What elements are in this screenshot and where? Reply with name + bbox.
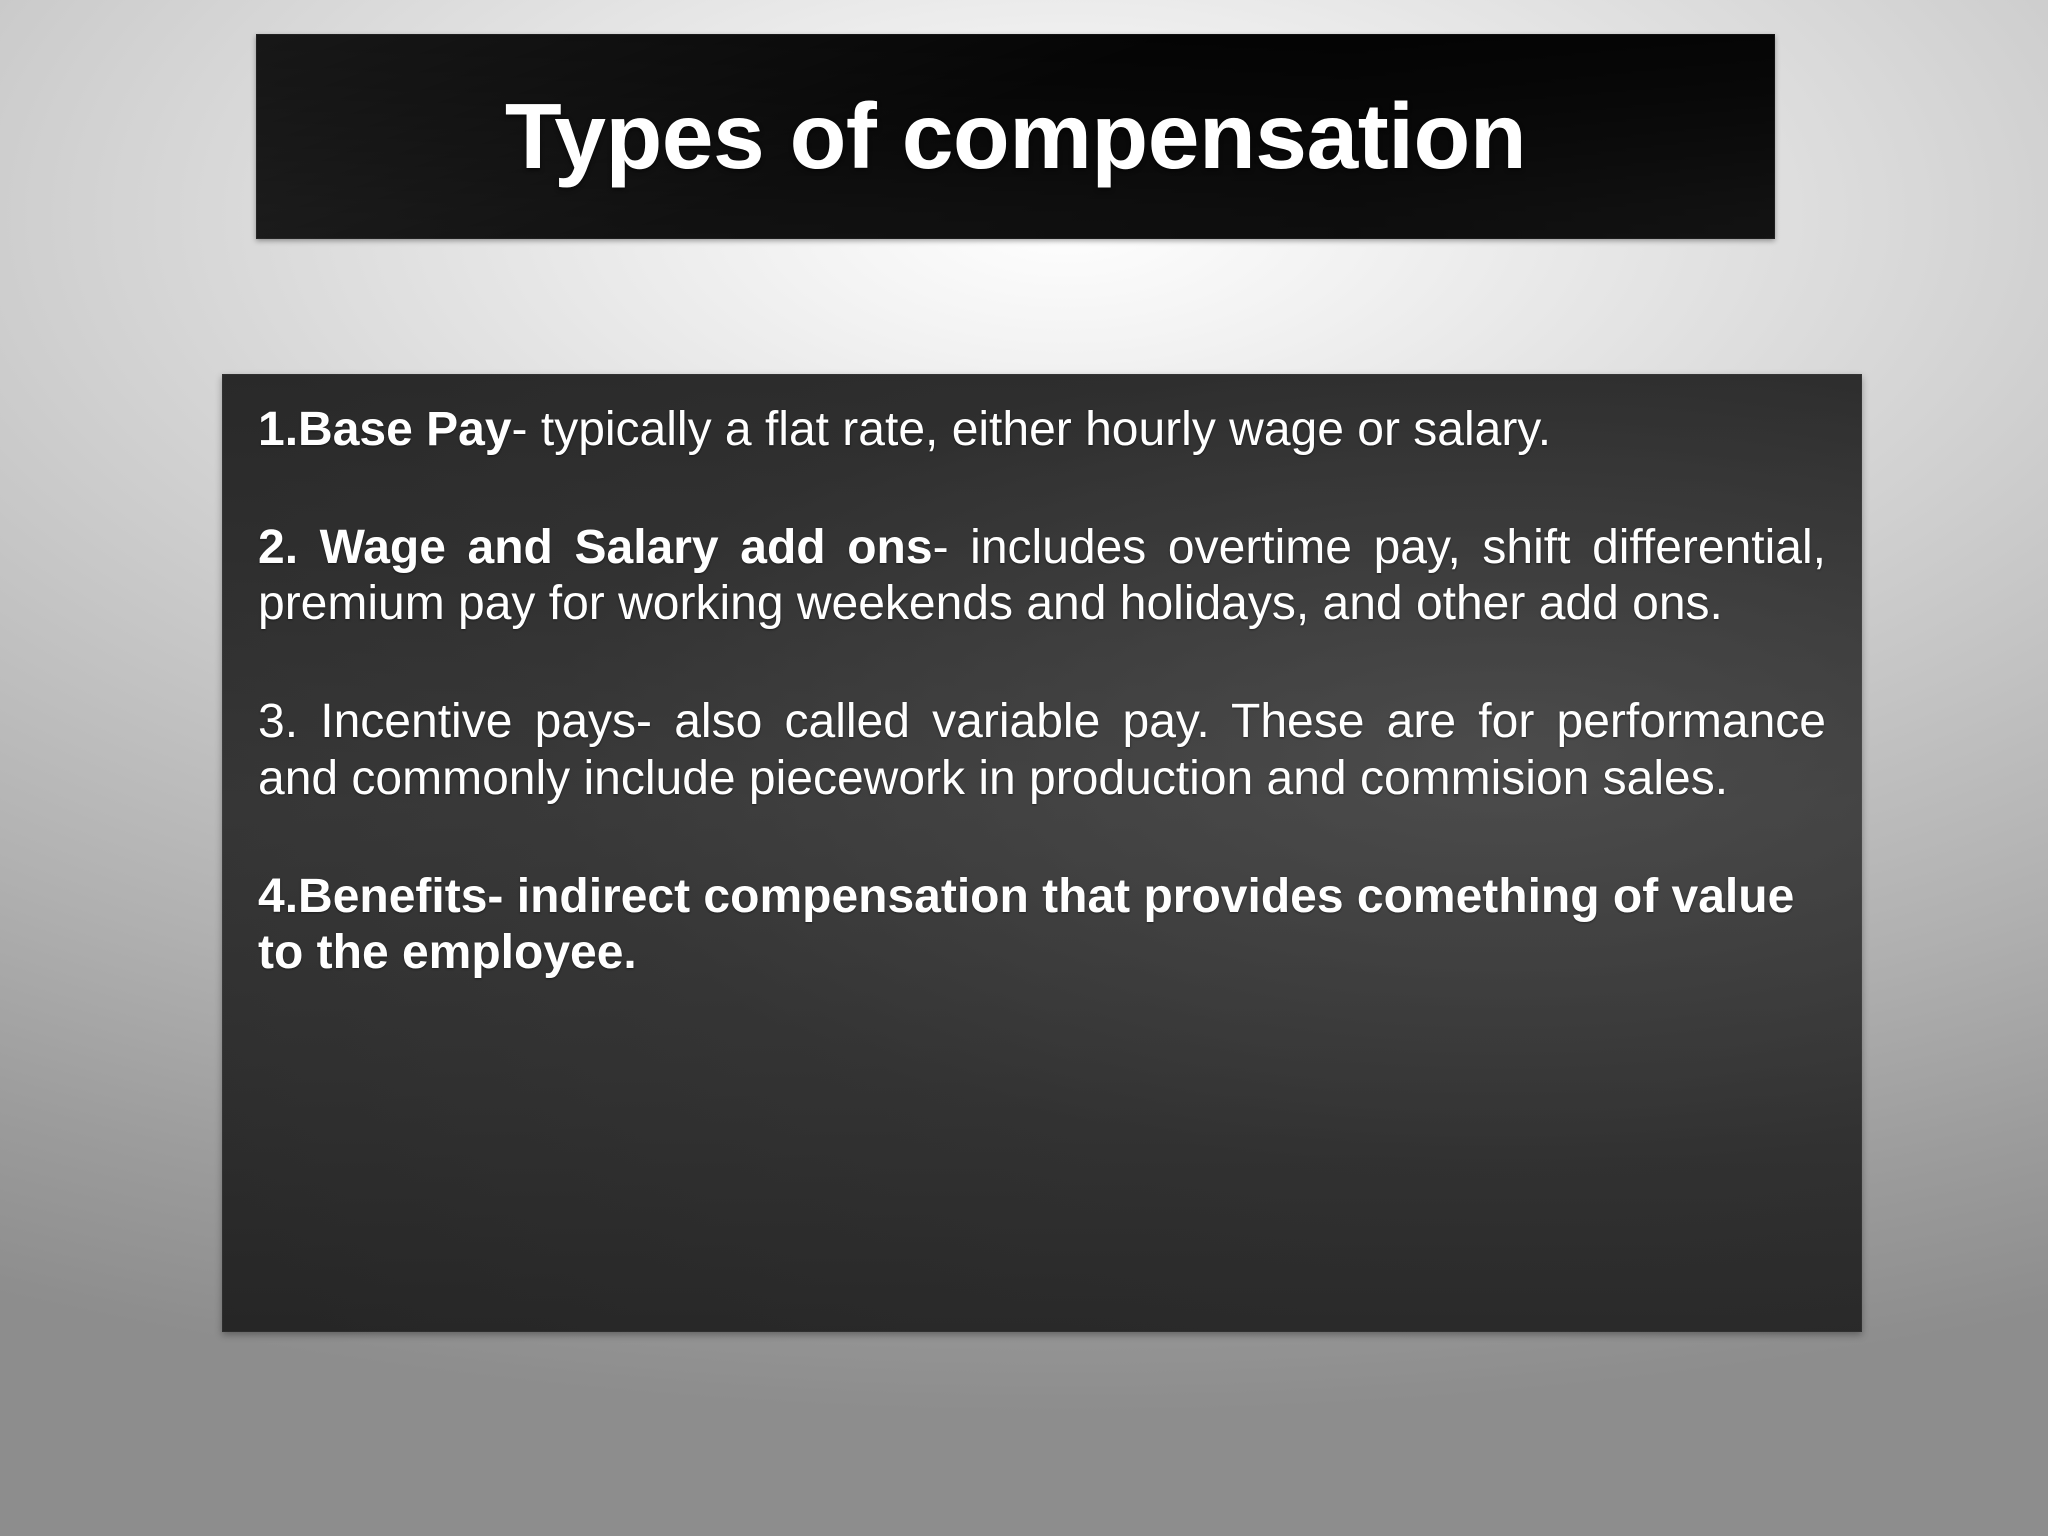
body-item-4-text: - indirect compensation that provides co… [258, 870, 1794, 979]
body-item-2: 2. Wage and Salary add ons- includes ove… [258, 520, 1826, 632]
body-item-1: 1.Base Pay- typically a flat rate, eithe… [258, 402, 1826, 458]
body-item-3: 3. Incentive pays- also called variable … [258, 694, 1826, 806]
body-item-1-text: - typically a flat rate, either hourly w… [512, 403, 1552, 456]
slide: Types of compensation 1.Base Pay- typica… [0, 0, 2048, 1536]
page-title: Types of compensation [505, 90, 1526, 183]
body-item-4: 4.Benefits- indirect compensation that p… [258, 869, 1826, 981]
body-item-1-term: 1.Base Pay [258, 403, 512, 456]
title-bar: Types of compensation [256, 34, 1775, 239]
content-body-box: 1.Base Pay- typically a flat rate, eithe… [222, 374, 1862, 1332]
body-item-3-term: 3. Incentive pays [258, 695, 636, 748]
body-item-2-term: 2. Wage and Salary add ons [258, 521, 933, 574]
body-item-4-term: 4.Benefits [258, 870, 487, 923]
